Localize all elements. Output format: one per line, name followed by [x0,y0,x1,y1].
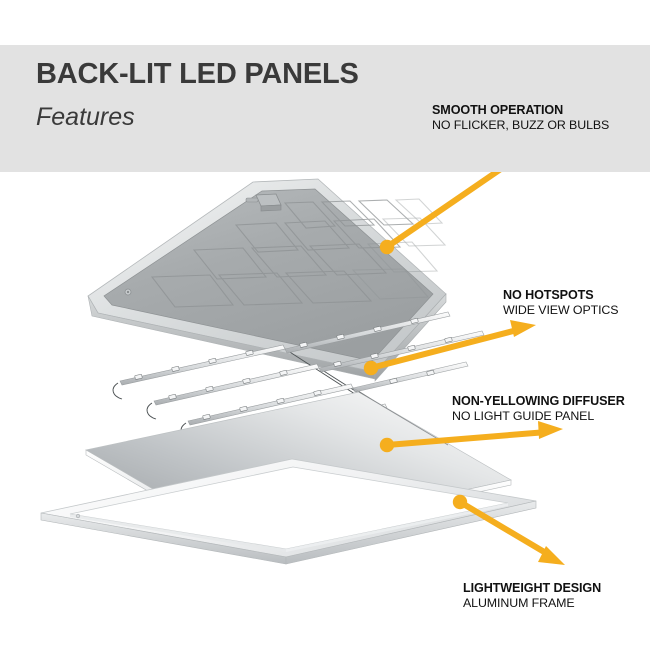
housing-inner-plate [104,189,433,361]
callout-title: SMOOTH OPERATION [432,103,609,118]
callout-lightweight-design: LIGHTWEIGHT DESIGN ALUMINUM FRAME [463,581,601,611]
callout-title: NO HOTSPOTS [503,288,618,303]
callout-title: LIGHTWEIGHT DESIGN [463,581,601,596]
callout-subtitle: ALUMINUM FRAME [463,596,601,611]
callout-subtitle: NO FLICKER, BUZZ OR BULBS [432,118,609,133]
callout-smooth-operation: SMOOTH OPERATION NO FLICKER, BUZZ OR BUL… [432,103,609,133]
callout-title: NON-YELLOWING DIFFUSER [452,394,625,409]
callout-subtitle: WIDE VIEW OPTICS [503,303,618,318]
page-root: BACK-LIT LED PANELS Features SMOOTH OPER… [0,0,650,650]
frame-corner-screw [76,514,80,518]
callout-no-hotspots: NO HOTSPOTS WIDE VIEW OPTICS [503,288,618,318]
callout-subtitle: NO LIGHT GUIDE PANEL [452,409,625,424]
page-subtitle: Features [36,103,135,132]
page-title: BACK-LIT LED PANELS [36,58,359,91]
callout-non-yellowing-diffuser: NON-YELLOWING DIFFUSER NO LIGHT GUIDE PA… [452,394,625,424]
